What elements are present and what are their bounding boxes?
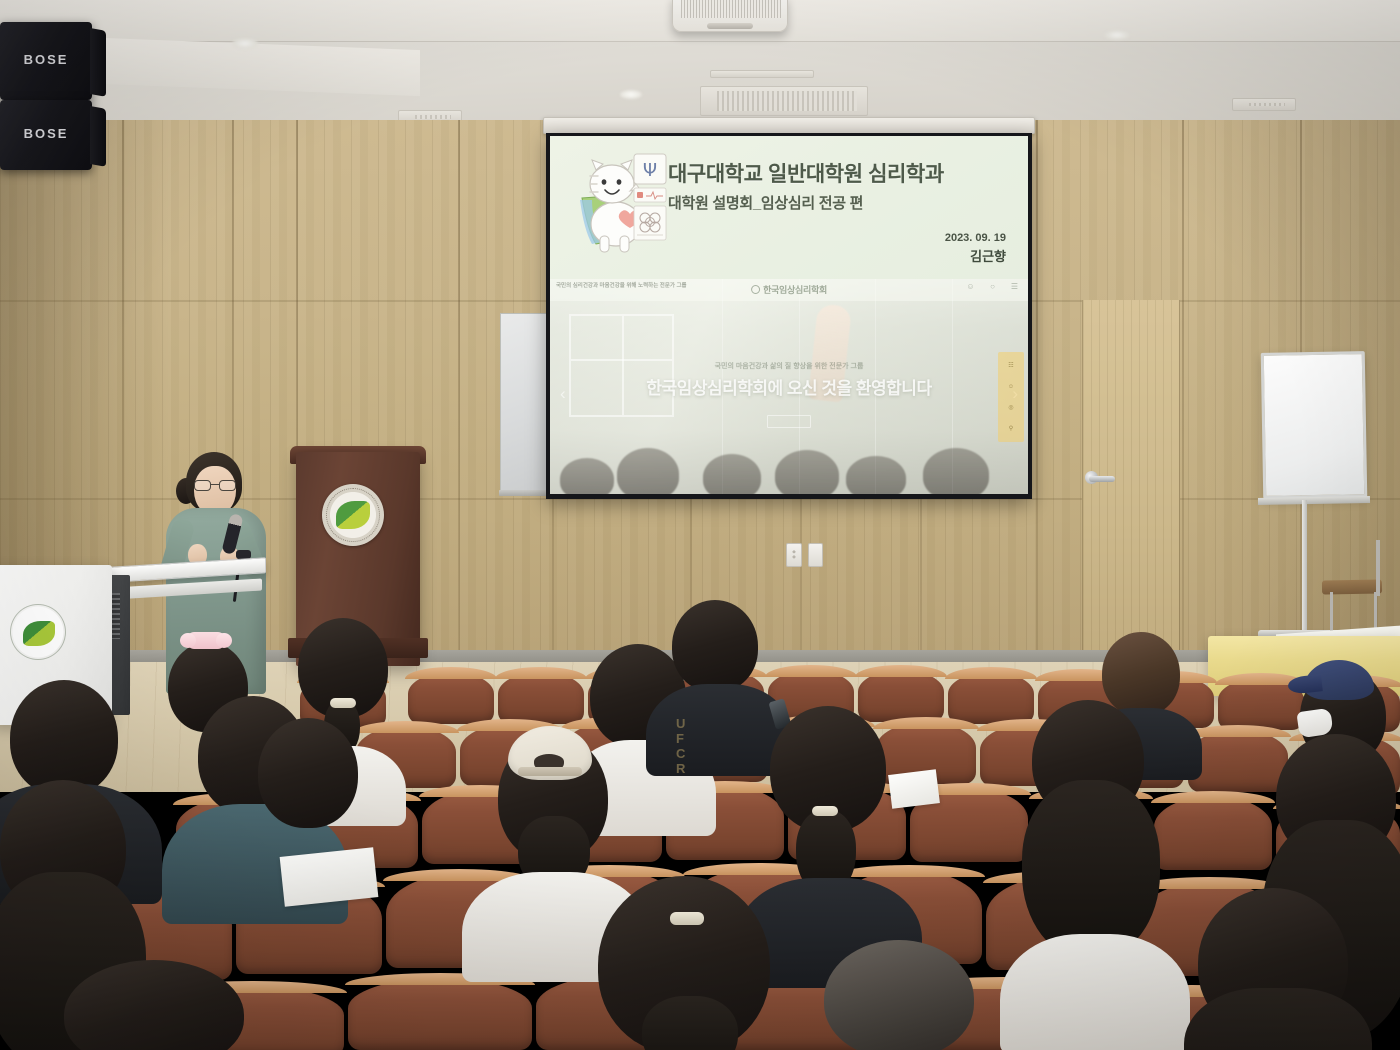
website-nav-icons[interactable]: ☺ ○ ☰ xyxy=(965,282,1020,291)
shirt-print-text: U F C R xyxy=(676,716,687,776)
side-rail-item[interactable]: ☺ xyxy=(998,376,1024,397)
columns-icon: ☷ xyxy=(1008,362,1013,369)
side-rail-item[interactable]: ⚲ xyxy=(998,418,1024,439)
bose-speaker-top: BOSE xyxy=(0,22,92,100)
silhouette-head xyxy=(560,458,614,494)
website-cta-button[interactable] xyxy=(767,415,811,428)
hair-bow xyxy=(186,632,226,649)
auditorium-seat xyxy=(348,978,532,1050)
light-switch[interactable] xyxy=(808,543,823,567)
air-vent-icon xyxy=(1232,98,1296,111)
head xyxy=(10,680,118,796)
wall-whiteboard-panel xyxy=(500,313,552,491)
person-icon: ☺ xyxy=(1008,384,1014,390)
website-tagline: 국민의 심리건강과 마음건강을 위해 노력하는 전문가 그룹 xyxy=(556,282,687,290)
bose-logo: BOSE xyxy=(24,126,69,141)
side-rail-item[interactable]: ◎ xyxy=(998,397,1024,418)
bose-speaker-bottom: BOSE xyxy=(0,100,92,170)
downlight xyxy=(620,90,642,99)
room-door[interactable] xyxy=(1082,300,1180,660)
university-emblem xyxy=(322,484,384,546)
screen-roller-housing xyxy=(543,117,1035,134)
downlight xyxy=(232,38,258,49)
air-vent-icon xyxy=(700,86,868,116)
book-icon[interactable]: ☰ xyxy=(1009,282,1020,291)
target-icon: ◎ xyxy=(1008,404,1013,411)
side-rail-item[interactable]: ☷ xyxy=(998,355,1024,376)
auditorium-seat xyxy=(1154,796,1272,870)
air-vent-icon xyxy=(710,70,814,78)
auditorium-photo: BOSE BOSE xyxy=(0,0,1400,1050)
torso xyxy=(1000,934,1190,1050)
website-side-rail[interactable]: ☷ ☺ ◎ ⚲ xyxy=(998,352,1024,442)
auditorium-seat xyxy=(408,672,494,724)
projection-screen: Ψ xyxy=(546,133,1032,499)
university-emblem xyxy=(10,604,66,660)
circle-icon[interactable]: ○ xyxy=(987,282,998,291)
handout-paper[interactable] xyxy=(280,847,379,907)
silhouette-head xyxy=(775,450,839,494)
logo-badge-icon xyxy=(751,285,760,294)
emblem-leaf-icon xyxy=(23,621,55,646)
auditorium-seat xyxy=(948,672,1034,724)
slide-date: 2023. 09. 19 xyxy=(945,230,1006,247)
slide-header: Ψ xyxy=(550,136,1028,279)
whiteboard-stand-pole xyxy=(1302,500,1307,638)
ceiling-projector xyxy=(672,0,788,32)
auditorium-seat xyxy=(858,670,944,722)
person-icon[interactable]: ☺ xyxy=(965,282,976,291)
website-logo[interactable]: 한국임상심리학회 xyxy=(751,283,827,296)
wall-panel-seam xyxy=(1036,120,1038,665)
hair-tie xyxy=(330,698,356,708)
auditorium-seat xyxy=(498,672,584,724)
search-icon: ⚲ xyxy=(1009,425,1013,432)
rolling-whiteboard xyxy=(1261,351,1368,499)
slide-subtitle: 대학원 설명회_임상심리 전공 편 xyxy=(668,192,1016,213)
downlight xyxy=(1104,30,1130,40)
presentation-slide: Ψ xyxy=(550,136,1028,494)
cap-strap xyxy=(518,767,582,776)
ponytail xyxy=(642,996,738,1050)
carousel-prev-icon[interactable]: ‹ xyxy=(560,384,566,404)
silhouette-head xyxy=(703,454,761,494)
white-tiger-mascot-icon: Ψ xyxy=(572,150,668,260)
head xyxy=(258,718,358,828)
wall-panel-seam xyxy=(458,120,460,665)
long-hair xyxy=(1022,780,1160,960)
door-handle-icon[interactable] xyxy=(1089,476,1115,482)
head xyxy=(1102,632,1180,716)
svg-text:Ψ: Ψ xyxy=(643,160,657,181)
slide-title: 대구대학교 일반대학원 심리학과 xyxy=(668,158,1016,188)
slide-presenter-name: 김근향 xyxy=(970,246,1006,265)
website-hero-headline: 한국임상심리학회에 오신 것을 환영합니다 xyxy=(646,374,931,399)
website-hero-subline: 국민의 마음건강과 삶의 질 향상을 위한 전문가 그룹 xyxy=(715,361,864,371)
handout-paper[interactable] xyxy=(888,769,940,809)
hair-tie xyxy=(670,912,704,925)
bose-logo: BOSE xyxy=(24,52,69,67)
website-screenshot: 국민의 심리건강과 마음건강을 위해 노력하는 전문가 그룹 한국임상심리학회 … xyxy=(550,279,1028,494)
glasses-icon xyxy=(194,480,236,491)
head xyxy=(824,940,974,1050)
wall-power-outlet[interactable] xyxy=(786,543,802,567)
wall-panel-seam xyxy=(1182,120,1184,665)
auditorium-seat xyxy=(1188,730,1288,792)
hair-tie xyxy=(812,806,838,816)
head xyxy=(672,600,758,692)
silhouette-head xyxy=(617,448,679,494)
window-frame xyxy=(569,314,674,417)
silhouette-head xyxy=(846,456,906,494)
silhouette-head xyxy=(923,448,989,494)
website-logo-text: 한국임상심리학회 xyxy=(763,283,827,296)
chair-backrest xyxy=(1376,540,1380,596)
